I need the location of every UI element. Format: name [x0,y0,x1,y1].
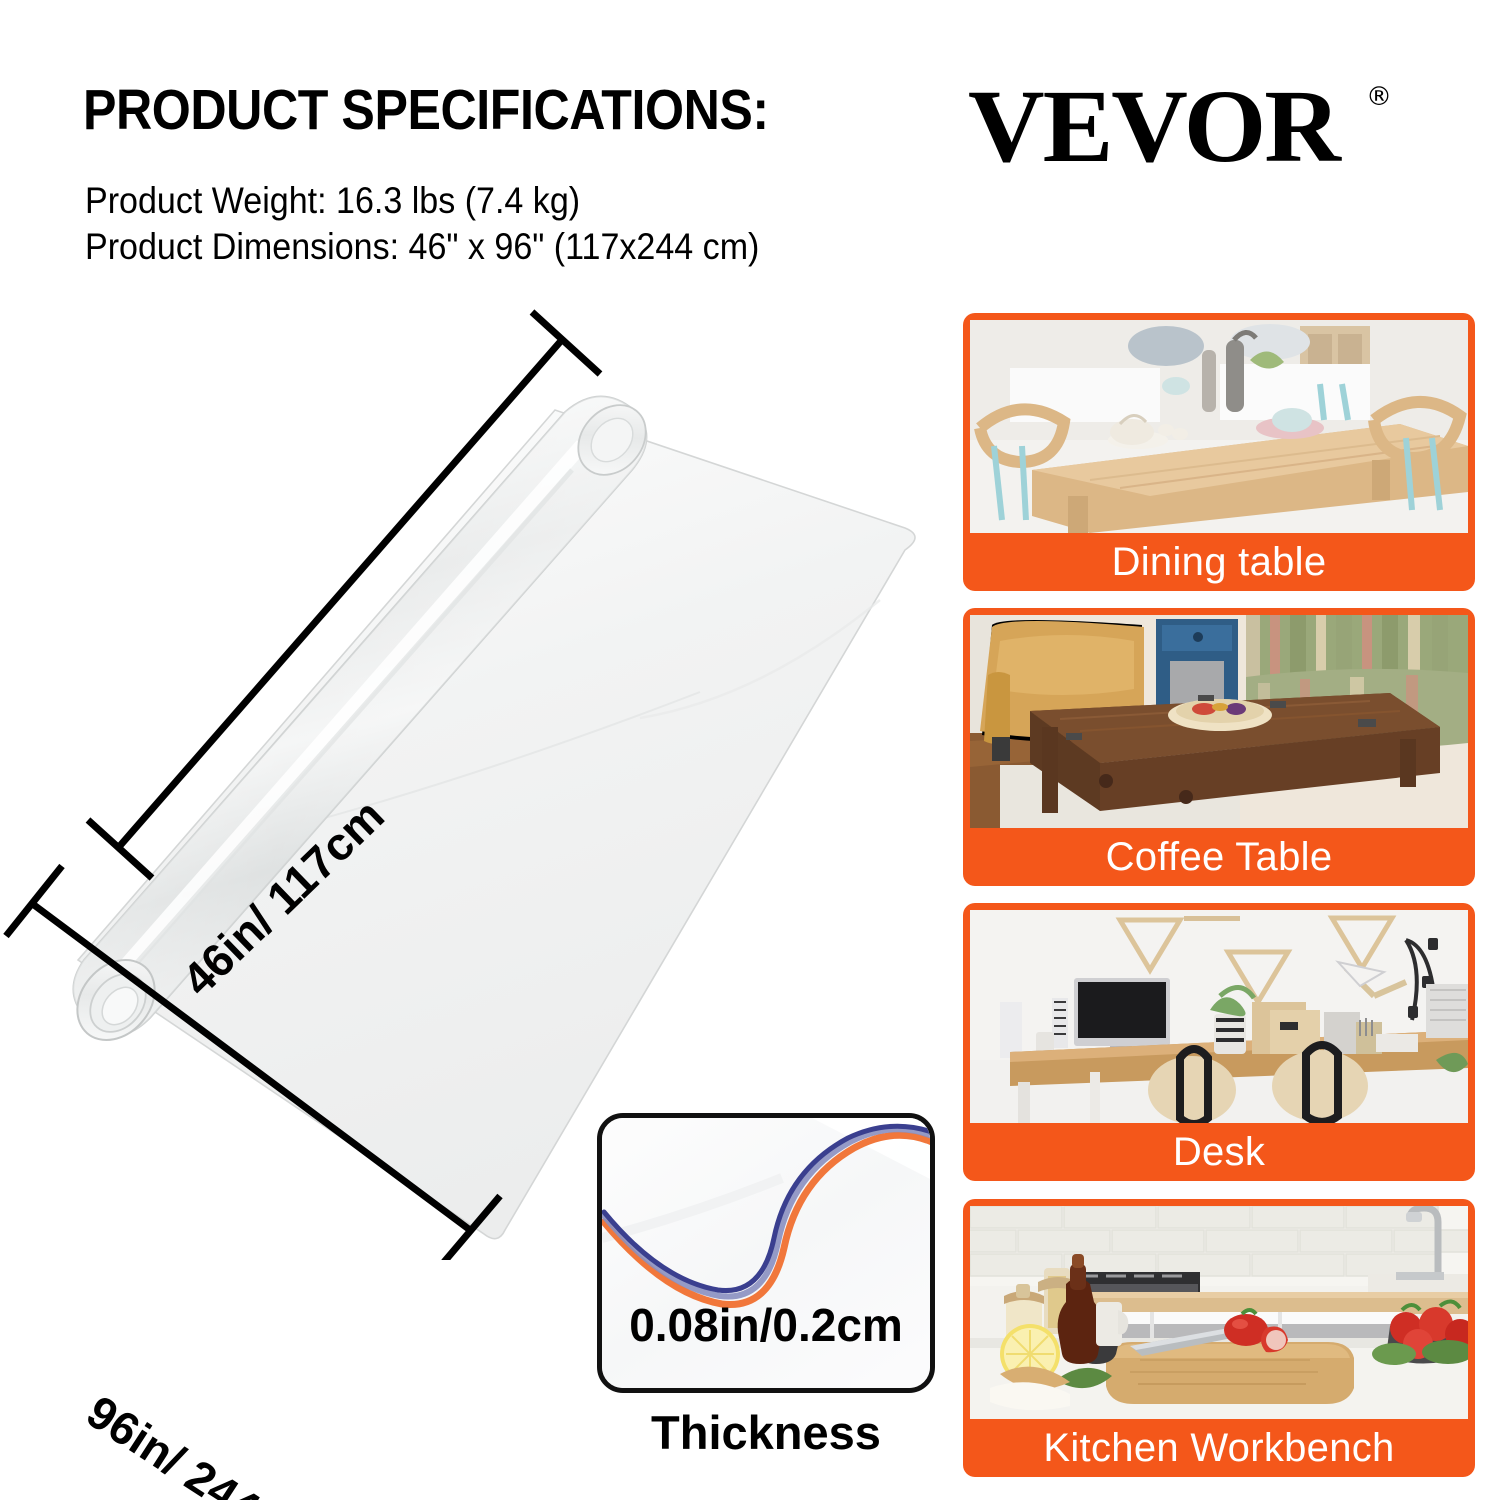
thickness-caption-label: Thickness [597,1405,935,1460]
scene-photo-coffee-table [970,615,1468,828]
registered-trademark-icon: ® [1366,82,1392,112]
brand-name: VEVOR [968,78,1339,176]
page-title: PRODUCT SPECIFICATIONS: [83,82,769,139]
scene-photo-dining-table [970,320,1468,533]
use-case-caption-kitchen-workbench: Kitchen Workbench [963,1419,1475,1477]
use-case-card-kitchen-workbench[interactable]: Kitchen Workbench [963,1199,1475,1477]
spec-product-weight: Product Weight: 16.3 lbs (7.4 kg) [85,182,580,219]
thickness-value-label: 0.08in/0.2cm [602,1298,930,1352]
scene-photo-kitchen-workbench [970,1206,1468,1419]
use-case-card-desk[interactable]: Desk [963,903,1475,1181]
use-case-card-list: Dining table [963,313,1475,1478]
vevor-logo: VEVOR ® [968,78,1428,178]
use-case-caption-dining-table: Dining table [963,533,1475,591]
thickness-box: 0.08in/0.2cm [597,1113,935,1393]
use-case-card-coffee-table[interactable]: Coffee Table [963,608,1475,886]
product-spec-infographic: PRODUCT SPECIFICATIONS: Product Weight: … [0,0,1500,1500]
spec-product-dimensions: Product Dimensions: 46" x 96" (117x244 c… [85,228,759,265]
use-case-caption-desk: Desk [963,1123,1475,1181]
dimension-label-length: 96in/ 244cm [77,1384,325,1500]
use-case-card-dining-table[interactable]: Dining table [963,313,1475,591]
use-case-caption-coffee-table: Coffee Table [963,828,1475,886]
thickness-callout: 0.08in/0.2cm Thickness [597,1113,935,1393]
scene-photo-desk [970,910,1468,1123]
